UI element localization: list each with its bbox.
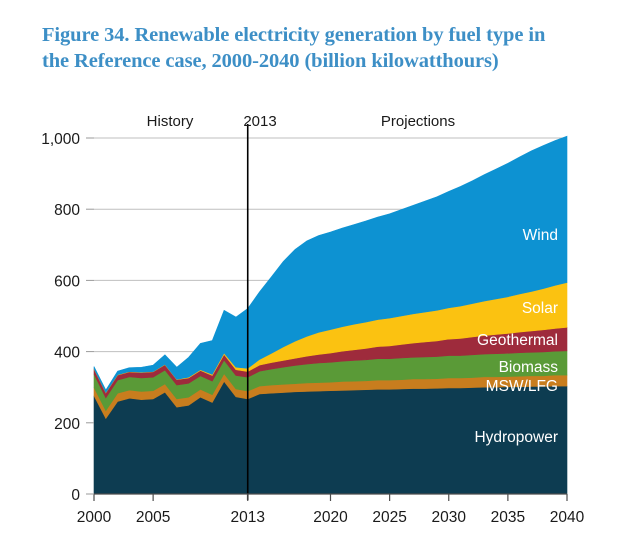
x-tick-label-2020: 2020: [313, 509, 348, 526]
series-label-msw-lfg: MSW/LFG: [486, 378, 558, 395]
y-tick-label-400: 400: [54, 345, 80, 362]
x-tick-label-2013: 2013: [230, 509, 264, 526]
annotation-projections: Projections: [381, 113, 455, 130]
x-tick-label-2005: 2005: [136, 509, 170, 526]
y-axis-tick-labels: 02004006008001,000: [41, 131, 80, 504]
y-tick-label-200: 200: [54, 416, 80, 433]
x-axis-tick-labels: 20002005201320202025203020352040: [77, 509, 585, 526]
series-label-solar: Solar: [522, 300, 558, 317]
chart-annotations: History2013Projections: [147, 113, 455, 130]
y-tick-label-1000: 1,000: [41, 131, 80, 148]
x-tick-label-2030: 2030: [432, 509, 467, 526]
annotation-history: History: [147, 113, 194, 130]
x-tick-label-2025: 2025: [372, 509, 406, 526]
series-label-wind: Wind: [523, 227, 558, 244]
x-tick-label-2035: 2035: [491, 509, 525, 526]
y-tick-label-600: 600: [54, 273, 80, 290]
figure-container: Figure 34. Renewable electricity generat…: [0, 0, 623, 553]
renewable-generation-area-chart: 02004006008001,000 200020052013202020252…: [0, 0, 623, 553]
x-tick-label-2000: 2000: [77, 509, 112, 526]
series-label-geothermal: Geothermal: [477, 332, 558, 349]
series-label-biomass: Biomass: [499, 359, 559, 376]
y-tick-label-800: 800: [54, 202, 80, 219]
annotation-divider-year: 2013: [243, 113, 276, 130]
x-tick-label-2040: 2040: [550, 509, 585, 526]
series-label-hydropower: Hydropower: [474, 429, 558, 446]
y-tick-label-0: 0: [71, 487, 80, 504]
